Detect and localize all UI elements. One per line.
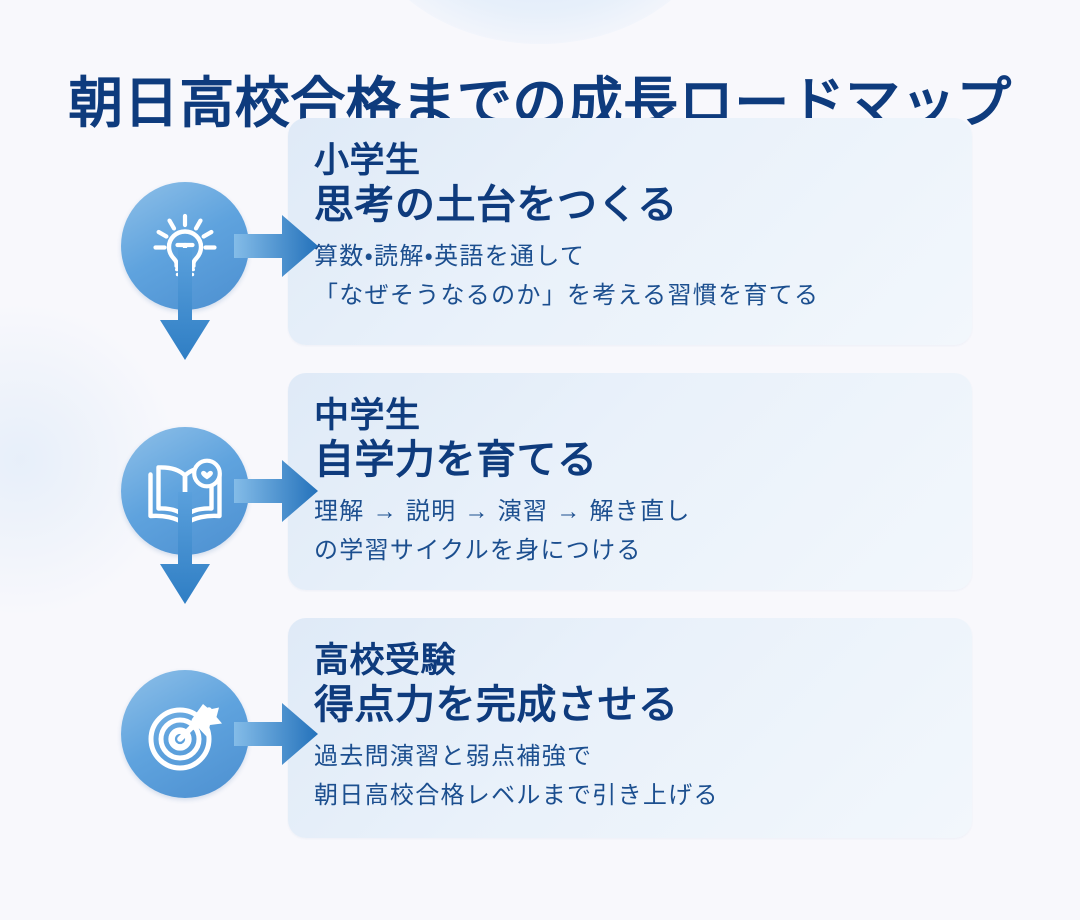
step-icon-badge-3 xyxy=(121,670,249,798)
step-card-3: 高校受験 得点力を完成させる 過去問演習と弱点補強で 朝日高校合格レベルまで引き… xyxy=(288,618,972,838)
step-card-1: 小学生 思考の土台をつくる 算数・読解・英語を通して 「なぜそうなるのか」を考え… xyxy=(288,118,972,345)
connector-arrow-1 xyxy=(156,248,214,364)
step-description-line: の学習サイクルを身につける xyxy=(314,532,972,571)
step-card-2: 中学生 自学力を育てる 理解 → 説明 → 演習 → 解き直し の学習サイクルを… xyxy=(288,373,972,590)
roadmap-diagram: 小学生 思考の土台をつくる 算数・読解・英語を通して 「なぜそうなるのか」を考え… xyxy=(0,0,1080,920)
step-headline-3: 得点力を完成させる xyxy=(314,681,972,730)
step-headline-1: 思考の土台をつくる xyxy=(314,181,972,230)
step-description-2: 理解 → 説明 → 演習 → 解き直し の学習サイクルを身につける xyxy=(314,493,972,571)
arrow-down-icon xyxy=(156,595,214,612)
step-stage-label-2: 中学生 xyxy=(314,395,972,436)
step-description-line: 過去問演習と弱点補強で xyxy=(314,738,972,777)
target-arrow-icon xyxy=(143,692,227,776)
step-stage-label-1: 小学生 xyxy=(314,140,972,181)
step-pointer-arrow-1 xyxy=(234,211,318,281)
connector-arrow-2 xyxy=(156,492,214,608)
step-description-line: 理解 → 説明 → 演習 → 解き直し xyxy=(314,493,972,532)
step-headline-2: 自学力を育てる xyxy=(314,436,972,485)
step-description-line: 朝日高校合格レベルまで引き上げる xyxy=(314,777,972,816)
step-description-3: 過去問演習と弱点補強で 朝日高校合格レベルまで引き上げる xyxy=(314,738,972,816)
step-pointer-arrow-3 xyxy=(234,699,318,769)
step-stage-label-3: 高校受験 xyxy=(314,640,972,681)
step-description-line: 「なぜそうなるのか」を考える習慣を育てる xyxy=(314,277,972,316)
step-description-line: 算数・読解・英語を通して xyxy=(314,238,972,277)
step-description-1: 算数・読解・英語を通して 「なぜそうなるのか」を考える習慣を育てる xyxy=(314,238,972,316)
arrow-down-icon xyxy=(156,351,214,368)
step-pointer-arrow-2 xyxy=(234,456,318,526)
